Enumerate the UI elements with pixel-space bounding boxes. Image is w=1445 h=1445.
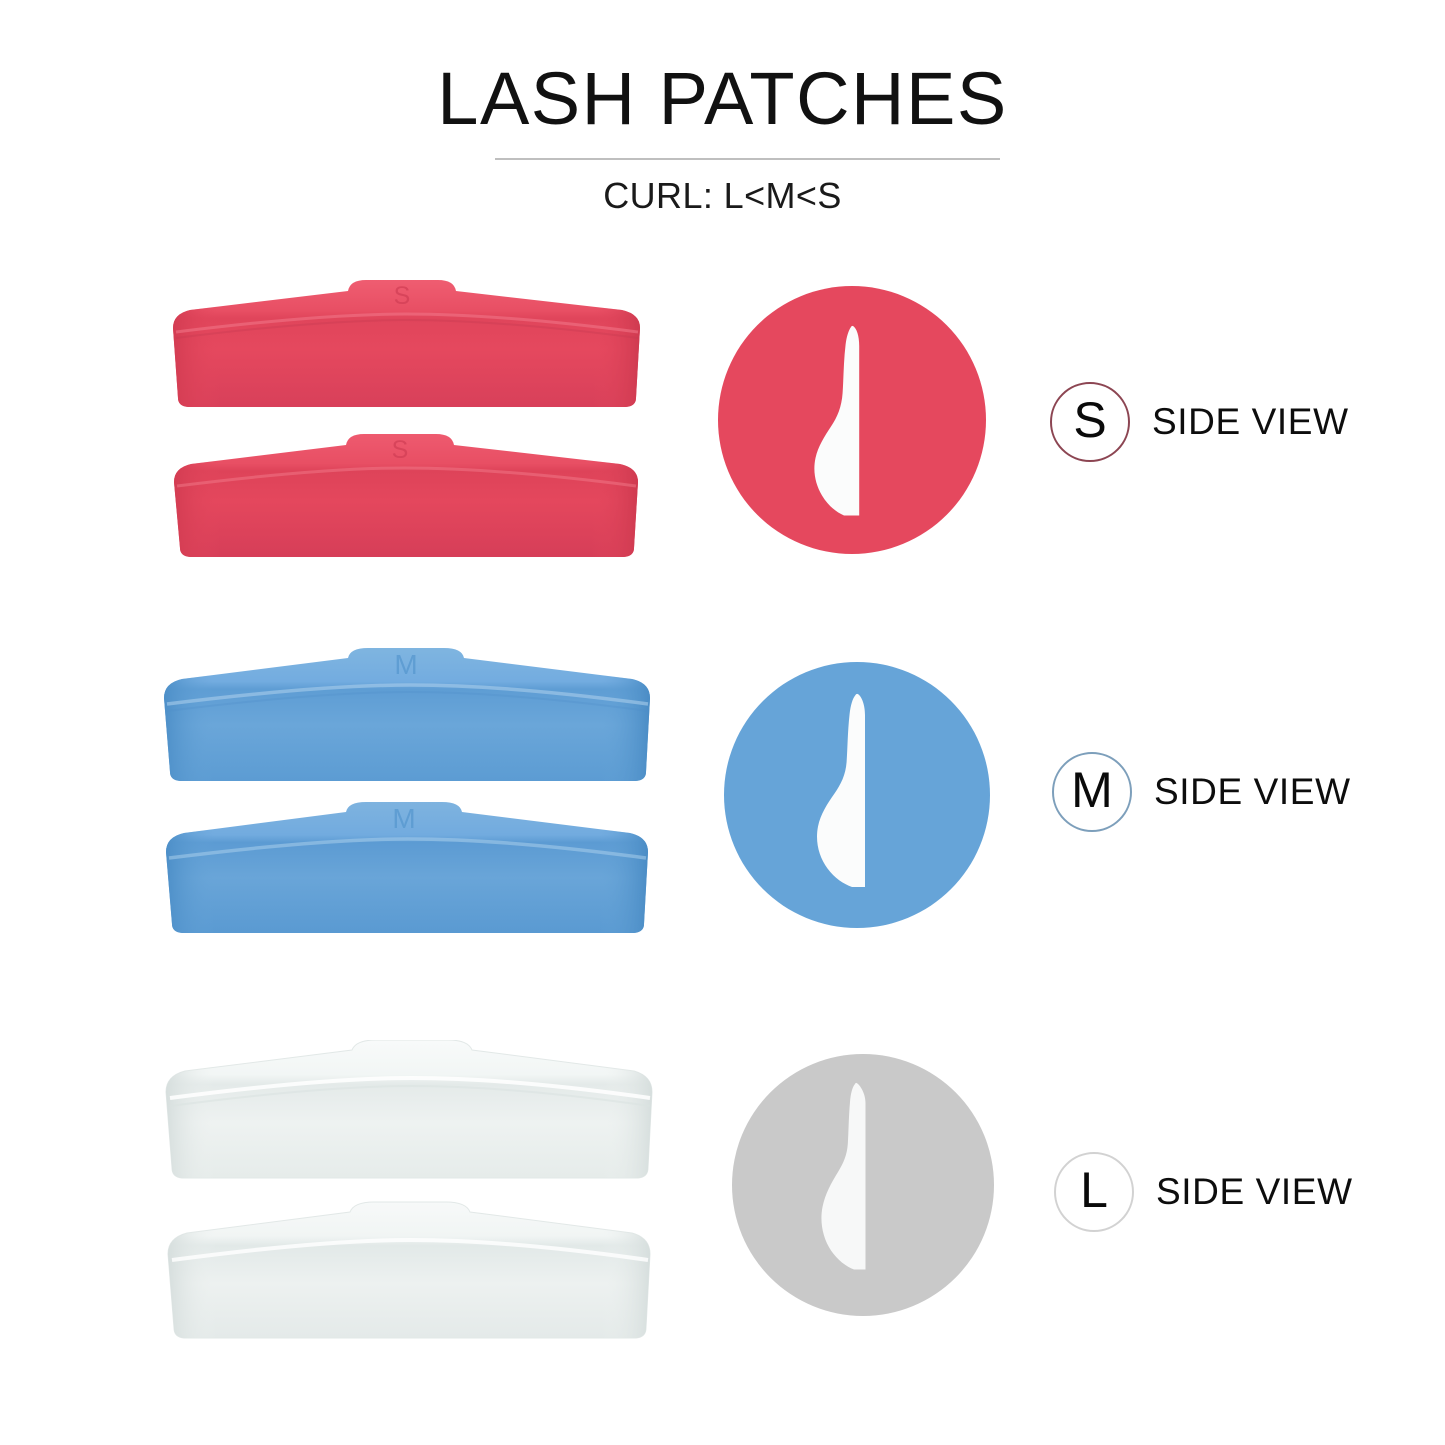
patch-emboss-letter: M xyxy=(394,649,417,680)
subtitle-curl-order: CURL: L<M<S xyxy=(0,176,1445,216)
curl-profile-shape-s xyxy=(814,326,859,516)
patch-s-top: S xyxy=(170,280,650,420)
curl-profile-circle-s xyxy=(718,286,986,554)
page-title: LASH PATCHES xyxy=(0,62,1445,136)
size-row-s: S xyxy=(0,272,1445,572)
curl-profile-circle-l xyxy=(732,1054,994,1316)
curl-profile-shape-l xyxy=(821,1083,865,1270)
size-badge-letter-m: M xyxy=(1071,765,1113,815)
legend-label-s: SIDE VIEW xyxy=(1152,401,1349,443)
title-divider xyxy=(495,158,1000,160)
legend-label-l: SIDE VIEW xyxy=(1156,1171,1353,1213)
size-badge-l: L xyxy=(1054,1152,1134,1232)
patch-m-top: M xyxy=(160,648,660,793)
legend-l: L SIDE VIEW xyxy=(1054,1152,1353,1232)
size-badge-s: S xyxy=(1050,382,1130,462)
patch-l-bottom xyxy=(162,1200,662,1350)
curl-profile-shape-m xyxy=(817,694,865,887)
legend-label-m: SIDE VIEW xyxy=(1154,771,1351,813)
size-row-l: L SIDE VIEW xyxy=(0,1032,1445,1352)
legend-m: M SIDE VIEW xyxy=(1052,752,1351,832)
infographic-page: LASH PATCHES CURL: L<M<S xyxy=(0,0,1445,1445)
size-badge-letter-l: L xyxy=(1080,1165,1108,1215)
curl-profile-circle-m xyxy=(724,662,990,928)
patch-emboss-letter: S xyxy=(392,436,409,464)
patch-s-bottom: S xyxy=(170,432,650,572)
patch-emboss-letter: S xyxy=(394,282,411,310)
size-badge-m: M xyxy=(1052,752,1132,832)
legend-s: S SIDE VIEW xyxy=(1050,382,1349,462)
patch-m-bottom: M xyxy=(160,800,660,945)
size-badge-letter-s: S xyxy=(1073,395,1106,445)
size-row-m: M xyxy=(0,642,1445,947)
patch-emboss-letter: M xyxy=(392,803,415,834)
patch-l-top xyxy=(162,1040,662,1190)
